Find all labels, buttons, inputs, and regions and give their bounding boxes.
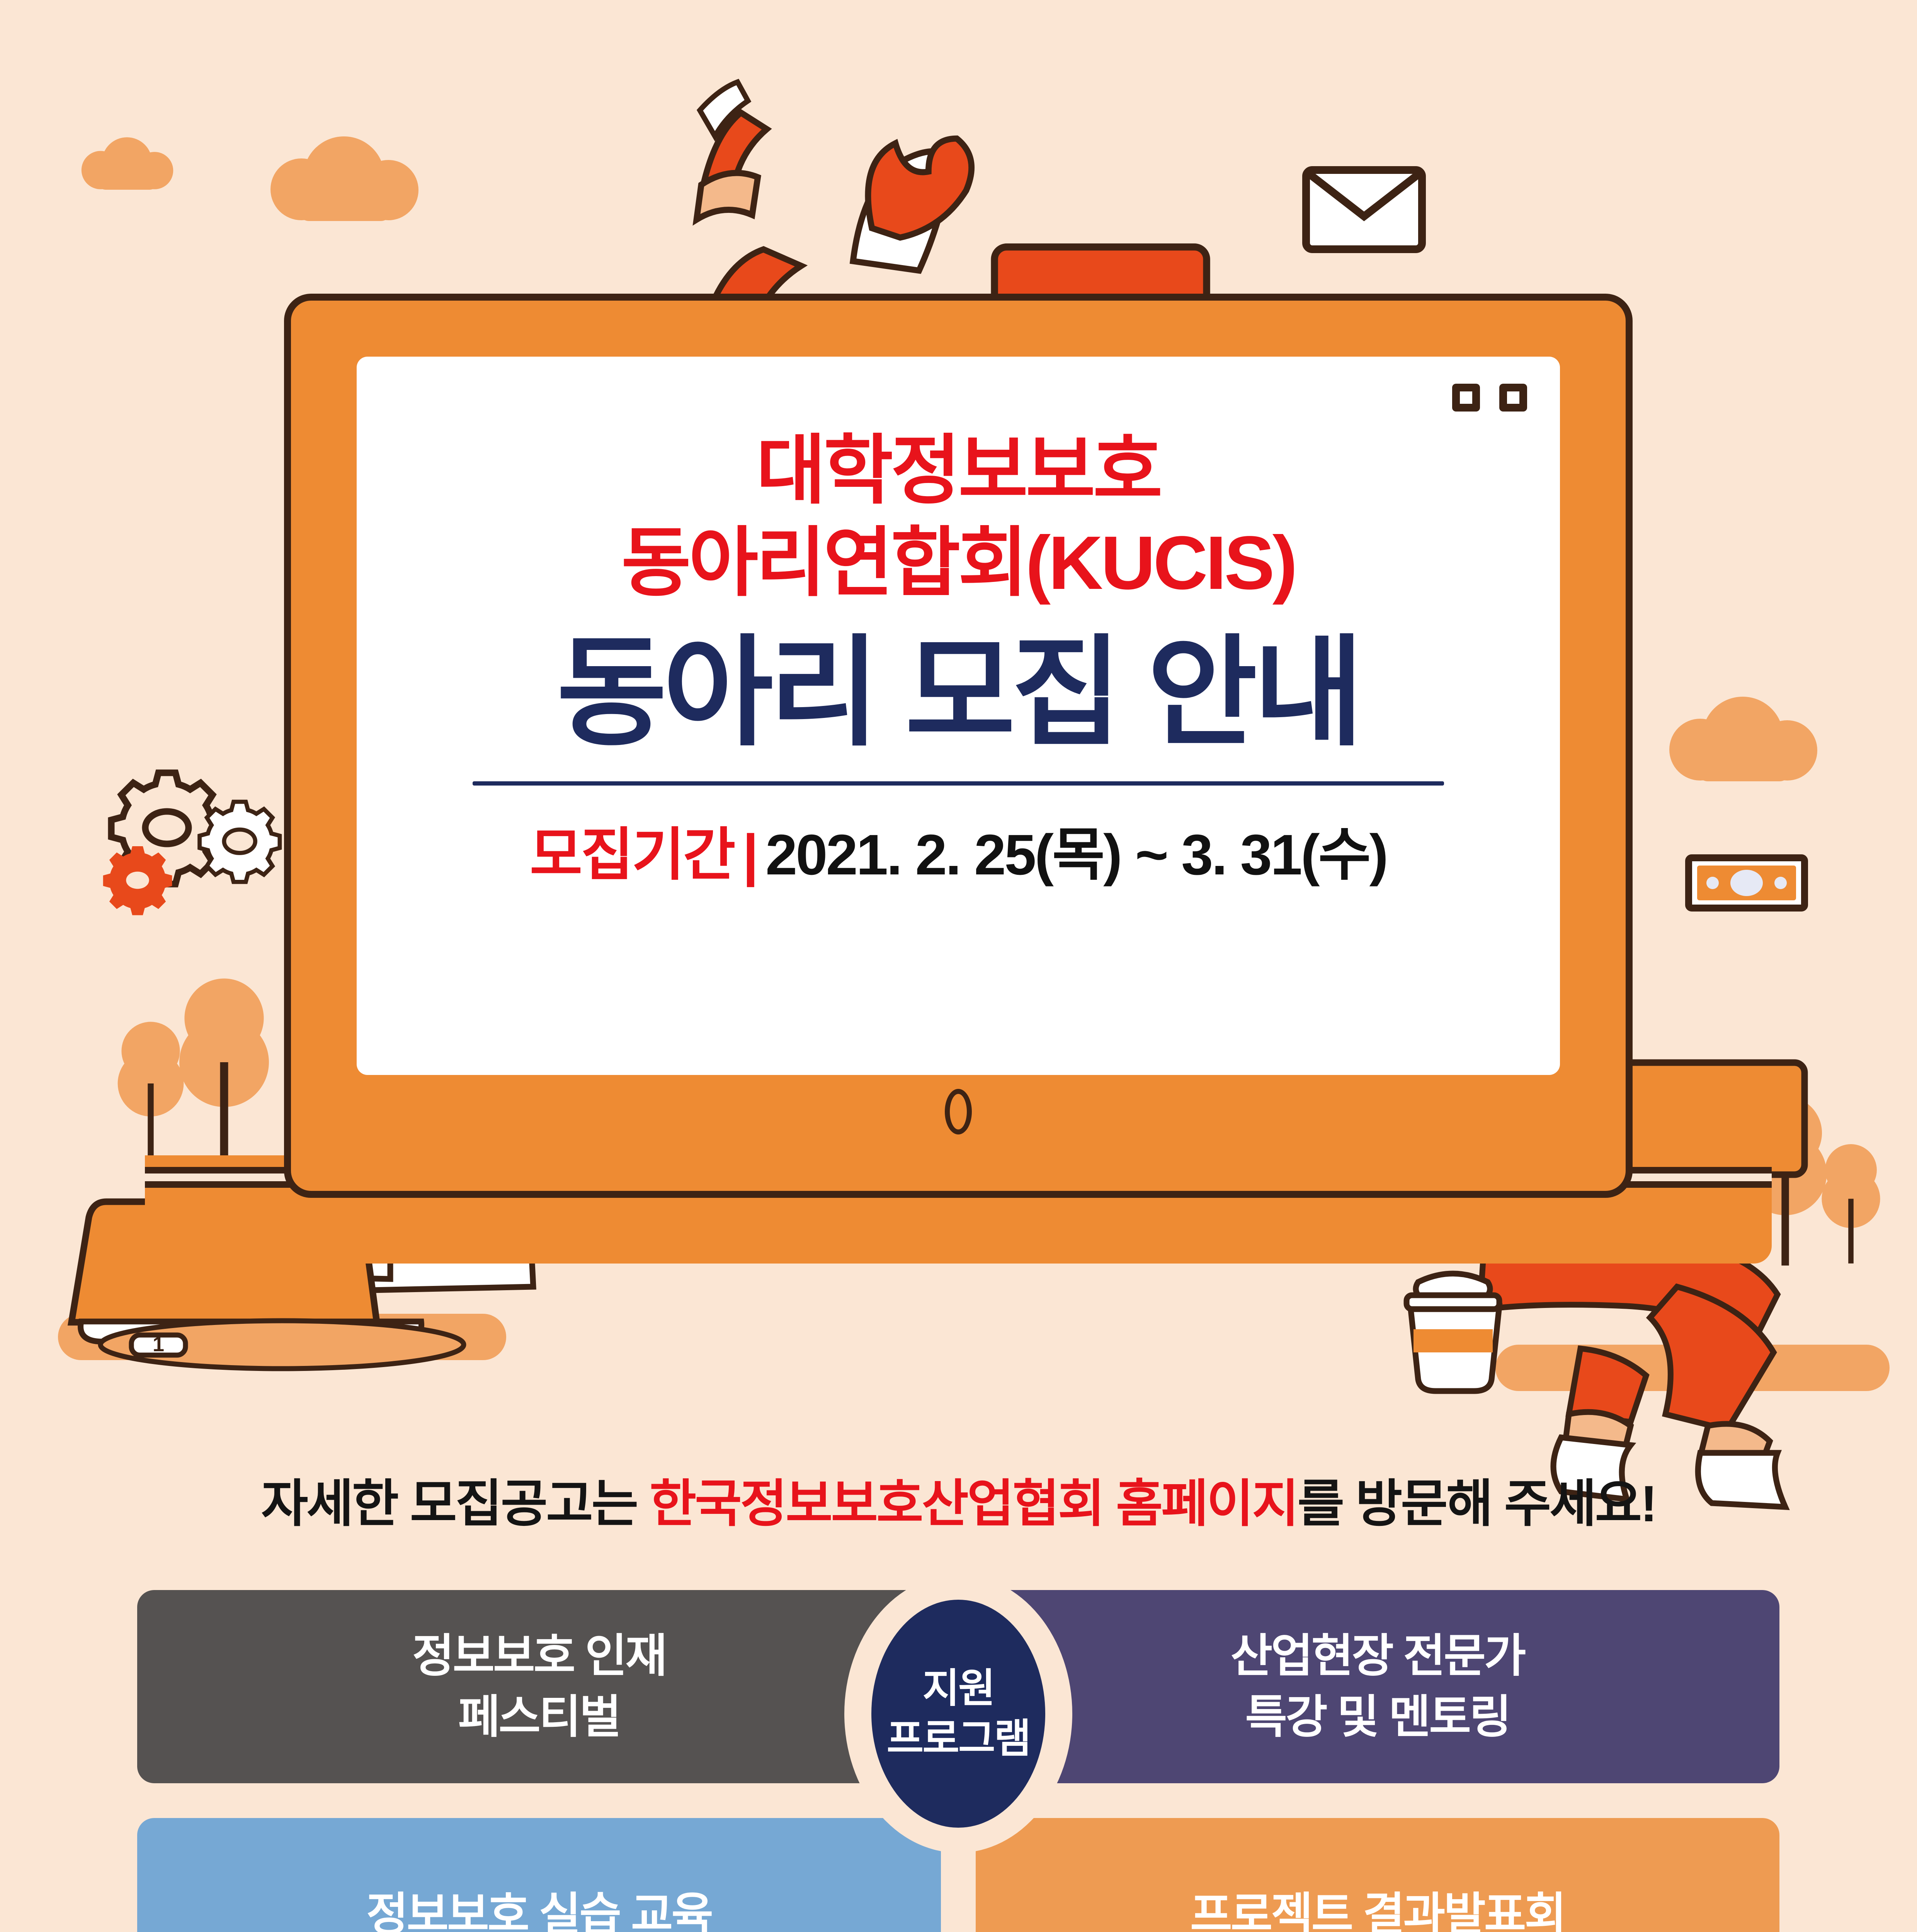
program-card-training-line1: 정보보호 실습 교육 xyxy=(366,1884,712,1932)
coffee-cup-icon xyxy=(1407,1274,1499,1391)
program-card-festival[interactable]: 정보보호 인재 페스티벌 xyxy=(137,1590,941,1783)
period-separator: | xyxy=(743,822,757,888)
support-program-grid: 정보보호 인재 페스티벌 산업현장 전문가 특강 및 멘토링 정보보호 실습 교… xyxy=(137,1590,1779,1932)
tree-icon xyxy=(118,978,269,1161)
program-card-training[interactable]: 정보보호 실습 교육 xyxy=(137,1818,941,1932)
support-program-hub: 지원 프로그램 xyxy=(871,1600,1045,1828)
program-card-mentoring-line2: 특강 및 멘토링 xyxy=(1231,1687,1525,1748)
program-card-mentoring[interactable]: 산업현장 전문가 특강 및 멘토링 xyxy=(976,1590,1779,1783)
notice-highlight[interactable]: 한국정보보호산업협회 홈페이지 xyxy=(650,1475,1298,1532)
minimize-square-icon[interactable] xyxy=(1452,384,1480,412)
laptop-window: 대학정보보호 동아리연합회(KUCIS) 동아리 모집 안내 모집기간 | 20… xyxy=(284,294,1633,1233)
program-card-festival-line1: 정보보호 인재 xyxy=(412,1626,666,1687)
recruitment-period: 모집기간 | 2021. 2. 25(목) ~ 3. 31(수) xyxy=(357,808,1560,891)
poster-root: 1 xyxy=(0,0,1917,1932)
page-title: 동아리 모집 안내 xyxy=(357,622,1560,764)
window-controls[interactable] xyxy=(1452,384,1527,412)
maximize-square-icon[interactable] xyxy=(1499,384,1527,412)
program-card-mentoring-line1: 산업현장 전문가 xyxy=(1231,1626,1525,1687)
period-value: 2021. 2. 25(목) ~ 3. 31(수) xyxy=(765,808,1387,891)
laptop-screen: 대학정보보호 동아리연합회(KUCIS) 동아리 모집 안내 모집기간 | 20… xyxy=(284,294,1633,1198)
title-line-2: 동아리연합회(KUCIS) xyxy=(357,517,1560,609)
program-card-presentation-line1: 프로젝트 결과발표회 xyxy=(1190,1884,1565,1932)
notice-prefix: 자세한 모집공고는 xyxy=(261,1475,650,1532)
hub-line-1: 지원 xyxy=(922,1663,994,1714)
banknote-icon xyxy=(1689,858,1805,908)
envelope-icon xyxy=(1306,170,1422,249)
program-card-festival-line2: 페스티벌 xyxy=(412,1687,666,1748)
period-label: 모집기간 xyxy=(530,808,734,891)
gear-icon xyxy=(103,773,280,915)
title-line-1: 대학정보보호 xyxy=(357,424,1560,517)
divider xyxy=(473,781,1444,786)
notice-line: 자세한 모집공고는 한국정보보호산업협회 홈페이지를 방문해 주세요! xyxy=(0,1463,1917,1536)
svg-text:1: 1 xyxy=(153,1333,164,1356)
headline-block: 대학정보보호 동아리연합회(KUCIS) 동아리 모집 안내 모집기간 | 20… xyxy=(357,424,1560,891)
notice-suffix: 를 방문해 주세요! xyxy=(1298,1475,1656,1532)
trackpad-icon xyxy=(945,1089,972,1134)
program-card-presentation[interactable]: 프로젝트 결과발표회 xyxy=(976,1818,1779,1932)
hub-line-2: 프로그램 xyxy=(887,1714,1030,1764)
